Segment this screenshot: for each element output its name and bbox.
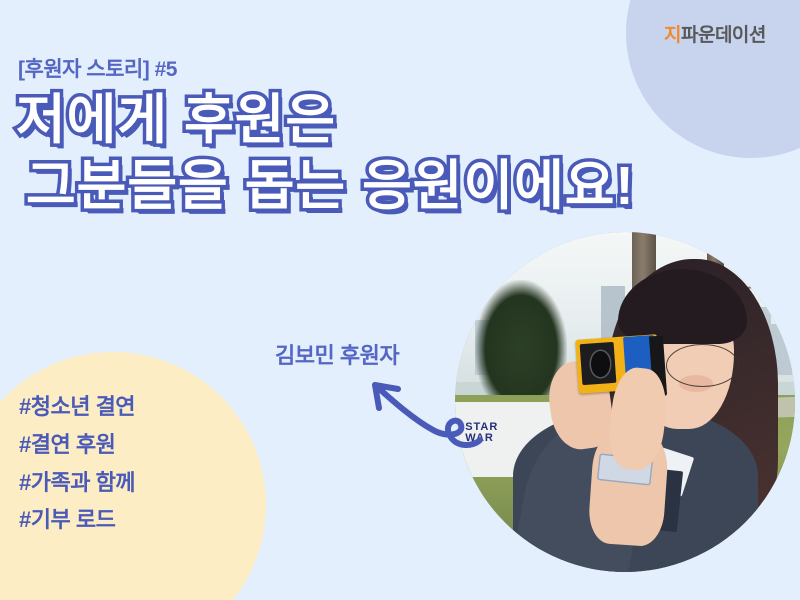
curved-arrow-icon (355, 368, 495, 448)
hashtag-item: #결연 후원 (19, 426, 259, 464)
hashtag-item: #청소년 결연 (19, 388, 259, 426)
sponsor-story-card: 지파운데이션 [후원자 스토리] #5 저에게 후원은 그분들을 돕는 응원이에… (0, 0, 800, 600)
logo-mark-character: 지 (664, 25, 681, 46)
photo-person-glasses (666, 344, 739, 387)
hashtag-item: #가족과 함께 (19, 464, 259, 502)
hashtag-list: #청소년 결연 #결연 후원 #가족과 함께 #기부 로드 (19, 388, 259, 539)
brand-logo: 지파운데이션 (664, 26, 766, 45)
photo-caption: 김보민 후원자 (275, 338, 399, 370)
photo-scene: STAR WAR (455, 232, 795, 572)
series-kicker: [후원자 스토리] #5 (18, 53, 177, 83)
camera-lens-icon (591, 351, 610, 377)
headline-line-2: 그분들을 돕는 응원이에요! (26, 154, 656, 220)
headline-line-1: 저에게 후원은 (16, 88, 656, 154)
hashtag-item: #기부 로드 (19, 501, 259, 539)
page-title: 저에게 후원은 그분들을 돕는 응원이에요! (16, 88, 656, 220)
logo-wordmark: 파운데이션 (681, 25, 766, 46)
sponsor-photo: STAR WAR (455, 232, 795, 572)
